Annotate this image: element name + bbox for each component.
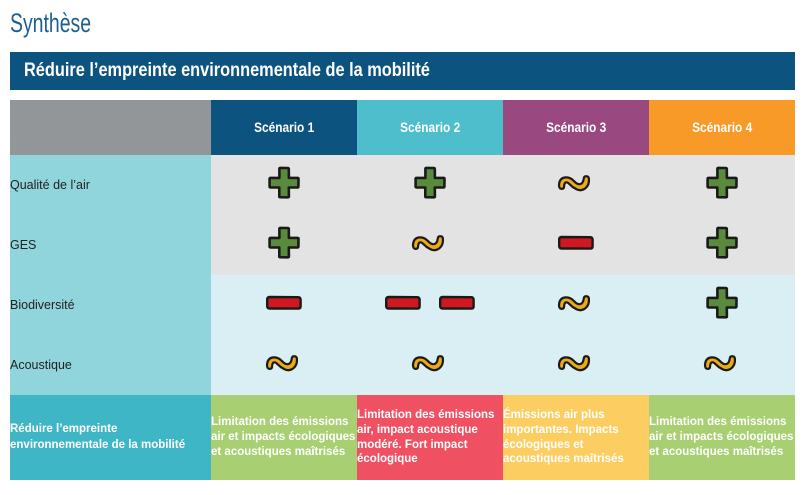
rating-icons bbox=[267, 166, 301, 200]
rating-cell[interactable] bbox=[357, 335, 503, 395]
rating-cell[interactable] bbox=[649, 215, 795, 275]
rating-cell[interactable] bbox=[503, 155, 649, 215]
row-label-1: Qualité de l’air bbox=[10, 155, 211, 215]
minus-bar-icon bbox=[437, 294, 477, 312]
rating-icons bbox=[556, 170, 596, 196]
table-body: Qualité de l’airGESBiodiversitéAcoustiqu… bbox=[10, 155, 795, 480]
rating-cell[interactable] bbox=[211, 275, 357, 335]
summary-row: Réduire l’empreinte environnementale de … bbox=[10, 395, 795, 480]
plus-icon bbox=[705, 286, 739, 320]
wave-icon bbox=[556, 290, 596, 316]
minus-bar-icon bbox=[556, 234, 596, 252]
rating-icons bbox=[705, 286, 739, 320]
column-header-label: Scénario 4 bbox=[692, 120, 752, 135]
table-row: Biodiversité bbox=[10, 275, 795, 335]
minus-bar-icon bbox=[264, 294, 304, 312]
rating-icons bbox=[556, 234, 596, 252]
table-row: GES bbox=[10, 215, 795, 275]
rating-icons bbox=[556, 290, 596, 316]
summary-cell-scenario-2: Limitation des émissions air, impact aco… bbox=[357, 395, 503, 480]
table-header-row: Scénario 1 Scénario 2 Scénario 3 Scénari… bbox=[10, 100, 795, 155]
summary-cell-scenario-4: Limitation des émissions air et impacts … bbox=[649, 395, 795, 480]
section-banner: Réduire l’empreinte environnementale de … bbox=[10, 52, 795, 90]
rating-cell[interactable] bbox=[211, 335, 357, 395]
wave-icon bbox=[410, 230, 450, 256]
rating-cell[interactable] bbox=[649, 155, 795, 215]
plus-icon bbox=[413, 166, 447, 200]
rating-cell[interactable] bbox=[649, 275, 795, 335]
banner-title: Réduire l’empreinte environnementale de … bbox=[24, 60, 430, 82]
rating-icons bbox=[556, 350, 596, 376]
rating-cell[interactable] bbox=[503, 335, 649, 395]
column-header-scenario-2[interactable]: Scénario 2 bbox=[357, 100, 503, 155]
row-label-2: GES bbox=[10, 215, 211, 275]
rating-icons bbox=[705, 166, 739, 200]
page-title: Synthèse bbox=[10, 8, 91, 39]
wave-icon bbox=[556, 170, 596, 196]
wave-icon bbox=[264, 350, 304, 376]
rating-cell[interactable] bbox=[357, 215, 503, 275]
column-header-label: Scénario 1 bbox=[254, 120, 314, 135]
summary-cell-scenario-3: Émissions air plus importantes. Impacts … bbox=[503, 395, 649, 480]
synthesis-matrix: Scénario 1 Scénario 2 Scénario 3 Scénari… bbox=[10, 100, 795, 480]
rating-cell[interactable] bbox=[503, 215, 649, 275]
rating-icons bbox=[702, 350, 742, 376]
wave-icon bbox=[556, 350, 596, 376]
rating-cell[interactable] bbox=[211, 155, 357, 215]
rating-cell[interactable] bbox=[649, 335, 795, 395]
rating-icons bbox=[410, 350, 450, 376]
wave-icon bbox=[702, 350, 742, 376]
wave-icon bbox=[410, 350, 450, 376]
column-header-scenario-3[interactable]: Scénario 3 bbox=[503, 100, 649, 155]
summary-cell-scenario-1: Limitation des émissions air et impacts … bbox=[211, 395, 357, 480]
rating-cell[interactable] bbox=[503, 275, 649, 335]
rating-icons bbox=[705, 226, 739, 260]
rating-icons bbox=[413, 166, 447, 200]
rating-icons bbox=[264, 294, 304, 312]
column-header-label: Scénario 3 bbox=[546, 120, 606, 135]
rating-cell[interactable] bbox=[357, 275, 503, 335]
summary-row-label: Réduire l’empreinte environnementale de … bbox=[10, 395, 211, 480]
rating-icons bbox=[267, 226, 301, 260]
plus-icon bbox=[705, 166, 739, 200]
column-header-scenario-4[interactable]: Scénario 4 bbox=[649, 100, 795, 155]
table-row: Qualité de l’air bbox=[10, 155, 795, 215]
rating-cell[interactable] bbox=[357, 155, 503, 215]
header-corner-cell bbox=[10, 100, 211, 155]
plus-icon bbox=[267, 226, 301, 260]
plus-icon bbox=[267, 166, 301, 200]
plus-icon bbox=[705, 226, 739, 260]
rating-icons bbox=[264, 350, 304, 376]
table-row: Acoustique bbox=[10, 335, 795, 395]
row-label-4: Acoustique bbox=[10, 335, 211, 395]
row-label-3: Biodiversité bbox=[10, 275, 211, 335]
rating-cell[interactable] bbox=[211, 215, 357, 275]
rating-icons bbox=[410, 230, 450, 256]
minus-bar-icon bbox=[383, 294, 423, 312]
column-header-scenario-1[interactable]: Scénario 1 bbox=[211, 100, 357, 155]
column-header-label: Scénario 2 bbox=[400, 120, 460, 135]
rating-icons bbox=[383, 294, 477, 312]
